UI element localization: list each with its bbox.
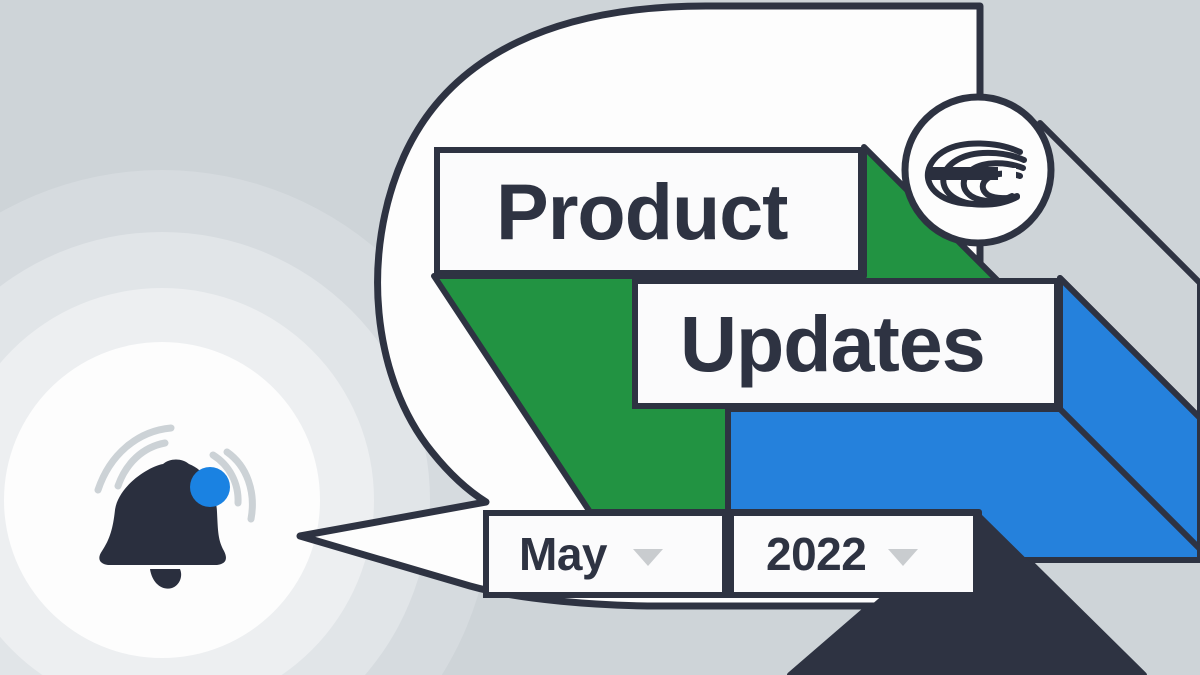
page-title-line-2: Updates [680,298,985,390]
month-select-value: May [519,527,607,581]
month-select[interactable]: May [483,510,728,598]
chevron-down-icon [633,549,663,566]
banner-text-layer: Product Updates May 2022 [0,0,1200,675]
title-plate-product: Product [434,147,864,276]
year-select[interactable]: 2022 [728,510,979,598]
year-select-value: 2022 [766,527,866,581]
product-updates-banner: Product Updates May 2022 [0,0,1200,675]
title-plate-updates: Updates [632,278,1060,409]
chevron-down-icon [888,549,918,566]
page-title-line-1: Product [496,166,787,258]
